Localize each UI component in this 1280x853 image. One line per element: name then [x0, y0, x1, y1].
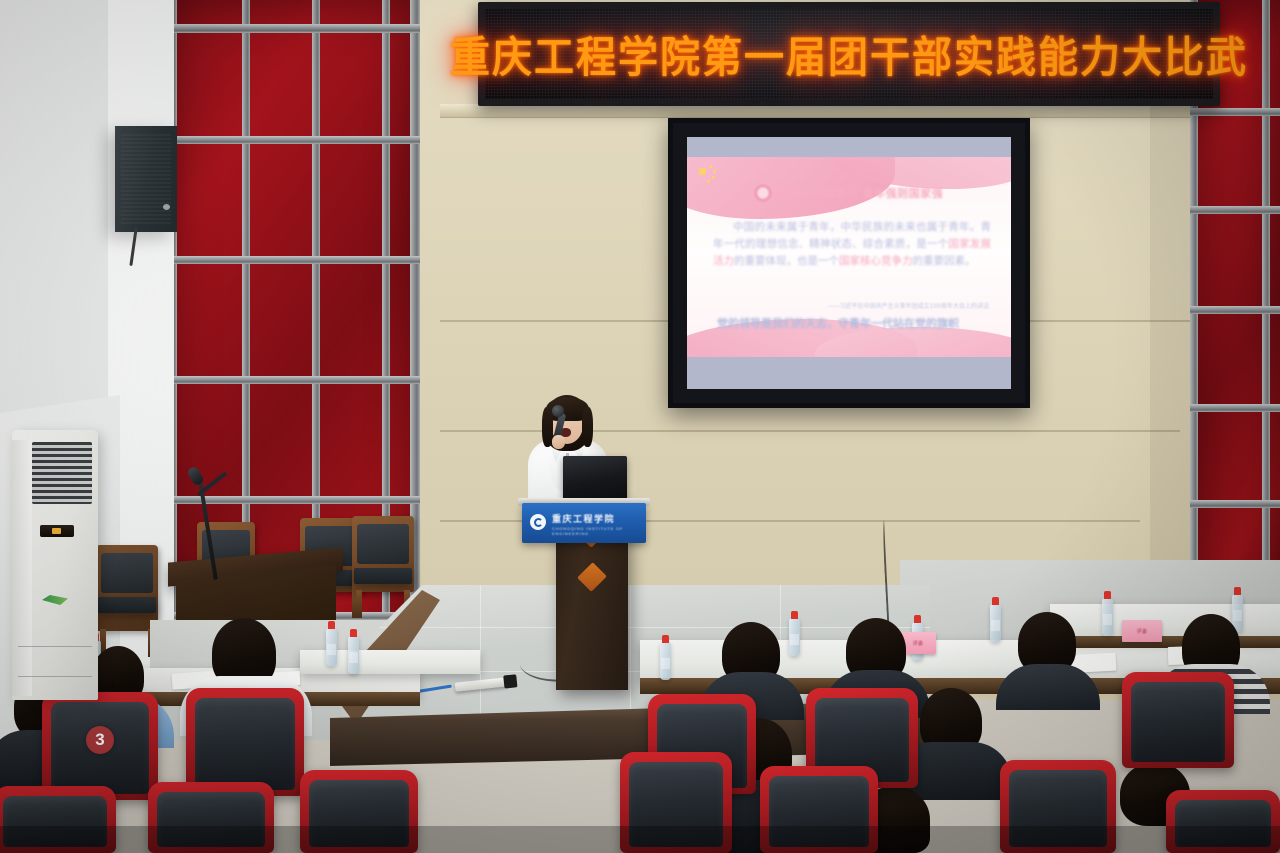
seat-number-label: 3 [86, 726, 114, 754]
panel-grid-frame [168, 376, 420, 384]
auditorium-seat[interactable] [186, 688, 304, 796]
water-bottle [326, 628, 337, 666]
projection-screen-surface: 青年兴则国家兴 青年强则国家强 中国的未来属于青年，中华民族的未来也属于青年。青… [687, 137, 1011, 389]
foreground-shadow [0, 826, 1280, 853]
slide-body-line-4: 的重要因素。 [913, 255, 976, 267]
slide-body-line-1: 中国的未来属于青年，中华民族的未来也属于青年。 [733, 221, 981, 233]
water-bottle [348, 636, 359, 674]
ac-brand-logo-icon [42, 595, 68, 605]
judge-table-rear [1050, 604, 1280, 640]
wooden-chair [96, 545, 158, 631]
slide-body-line-3: 的重要体现，也是一个 [734, 255, 839, 267]
led-banner-screen: 重庆工程学院第一届团干部实践能力大比武 [485, 9, 1213, 99]
slide-badge-icon [755, 185, 771, 201]
panel-grid-frame [1190, 404, 1280, 412]
ac-display-icon [40, 525, 74, 537]
microphone-icon [552, 405, 564, 417]
panel-grid-frame [382, 0, 390, 700]
slide-footer: 党的领导是我们的天志，守青年一代站在党的旗帜 [717, 315, 959, 331]
judge-name-card: 评委 [1122, 620, 1162, 642]
panel-grid-frame [168, 256, 420, 264]
panel-grid-frame [1190, 108, 1280, 116]
laptop-icon [563, 456, 627, 500]
slide-title-row: 青年兴则国家兴 青年强则国家强 [687, 185, 1011, 201]
screen-band-top [687, 137, 1011, 157]
led-banner-frame: 重庆工程学院第一届团干部实践能力大比武 [478, 2, 1220, 106]
podium-institution-name: 重庆工程学院 [552, 512, 640, 525]
panel-grid-frame [1190, 306, 1280, 314]
ac-vent-grille-icon [32, 442, 92, 504]
panel-grid-frame [1262, 0, 1270, 640]
water-bottle [1102, 598, 1113, 636]
presenter-hand [552, 435, 565, 449]
water-bottle [990, 604, 1001, 642]
wooden-chair [352, 516, 414, 592]
panel-grid-frame [168, 24, 420, 33]
slide-body-text: 中国的未来属于青年，中华民族的未来也属于青年。青年一代的理想信念、精神状态、综合… [713, 219, 991, 270]
university-logo-icon [530, 514, 546, 530]
panel-grid-frame [1190, 500, 1280, 508]
podium-diamond-ornament [577, 562, 607, 592]
air-conditioner-unit [12, 430, 98, 700]
water-bottle [789, 618, 800, 656]
slide-citation: ——习近平在中国共产主义青年团成立100周年大会上的讲话 [828, 301, 989, 310]
auditorium-seat[interactable] [1122, 672, 1234, 768]
podium-front-panel: 重庆工程学院 CHONGQING INSTITUTE OF ENGINEERIN… [522, 503, 646, 543]
panel-grid-frame [1190, 206, 1280, 214]
podium-institution-subtitle: CHONGQING INSTITUTE OF ENGINEERING [552, 526, 640, 536]
auditorium-seat-numbered[interactable]: 3 [42, 692, 158, 800]
ac-side-panel [12, 440, 32, 696]
presenter-hair-side [582, 407, 593, 447]
judge-table-edge [1050, 636, 1280, 648]
speaker-knob-icon [163, 204, 170, 210]
wall-speaker-icon [115, 126, 177, 232]
auditorium-scene-photo: 重庆工程学院第一届团干部实践能力大比武 [0, 0, 1280, 853]
slide-title: 青年兴则国家兴 青年强则国家强 [778, 185, 943, 201]
panel-grid-frame [168, 136, 420, 144]
presentation-slide: 青年兴则国家兴 青年强则国家强 中国的未来属于青年，中华民族的未来也属于青年。青… [687, 157, 1011, 357]
led-banner-text: 重庆工程学院第一届团干部实践能力大比武 [450, 23, 1248, 84]
slide-body-highlight-2: 国家核心竞争力 [839, 255, 913, 267]
water-bottle [660, 642, 671, 680]
projection-screen: 青年兴则国家兴 青年强则国家强 中国的未来属于青年，中华民族的未来也属于青年。青… [668, 118, 1030, 408]
